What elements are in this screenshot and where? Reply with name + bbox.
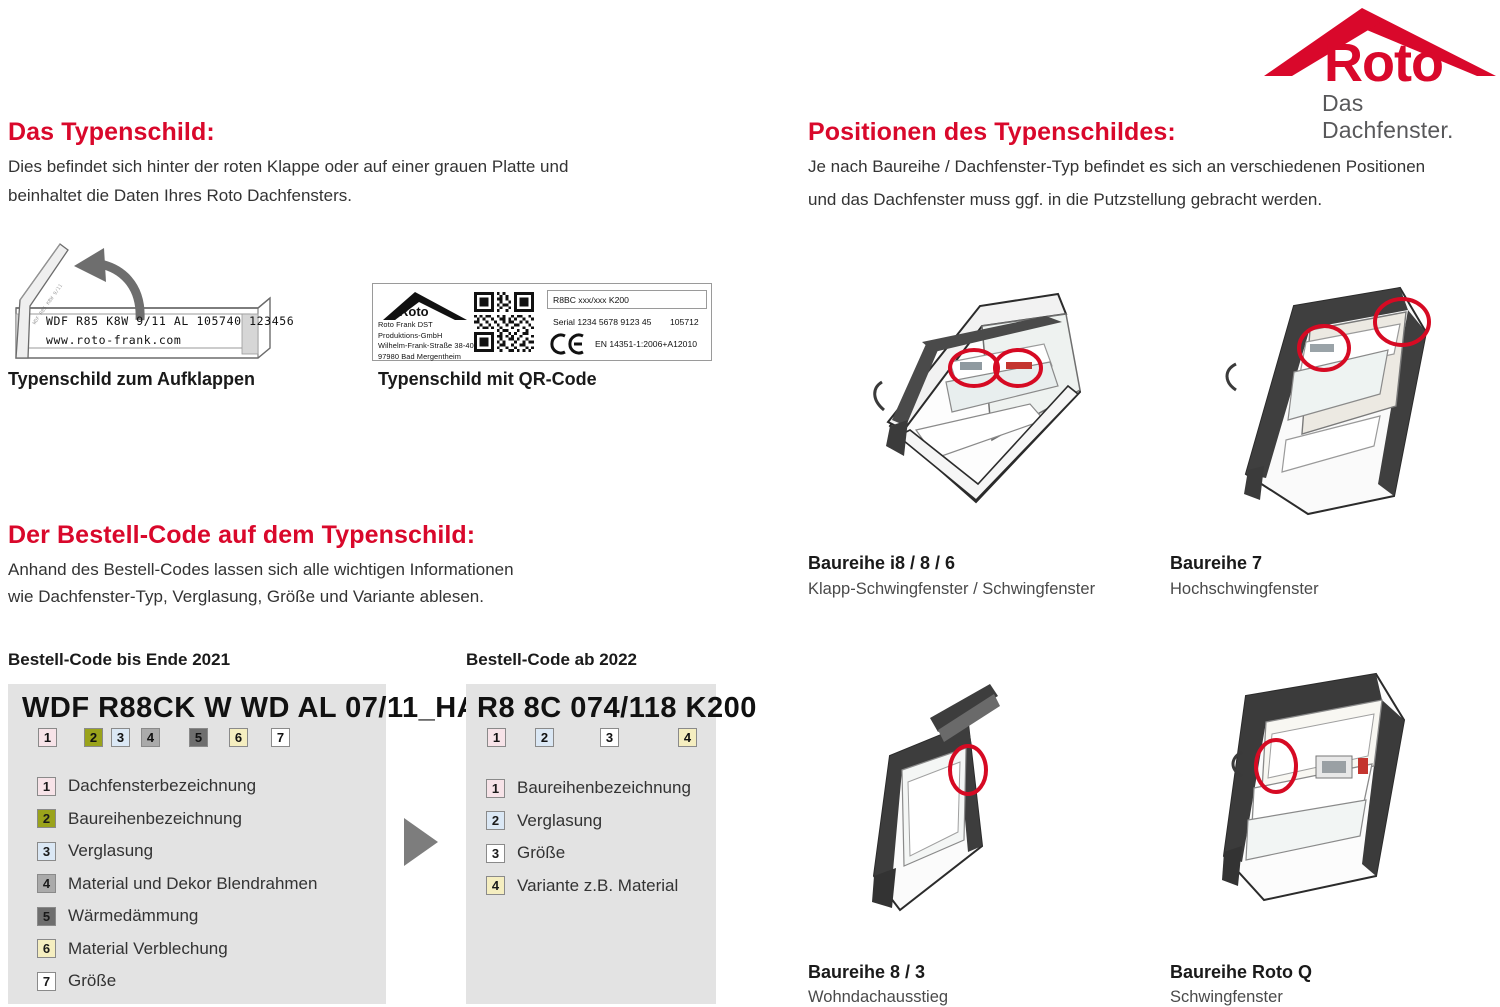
legend-label-5: Wärmedämmung xyxy=(68,906,198,926)
caption-window-4-title: Baureihe Roto Q xyxy=(1170,962,1312,983)
code-badge-1: 1 xyxy=(38,728,57,747)
legend-item-1: 1Dachfensterbezeichnung xyxy=(37,776,256,796)
caption-typenschild-qr: Typenschild mit QR-Code xyxy=(378,369,597,390)
code-badge-5: 5 xyxy=(189,728,208,747)
ce-mark-icon xyxy=(549,333,589,355)
legend-item-1: 1Baureihenbezeichnung xyxy=(486,778,691,798)
legend-badge-7: 7 xyxy=(37,972,56,991)
code-badge-7: 7 xyxy=(271,728,290,747)
document-page: Roto Das Dachfenster. Das Typenschild: D… xyxy=(0,0,1500,1004)
plate-address: Roto Frank DST Produktions-GmbH Wilhelm-… xyxy=(378,320,474,362)
legend-item-5: 5Wärmedämmung xyxy=(37,906,198,926)
typenschild-qr-plate: Roto Roto Frank DST Produktions-GmbH Wil… xyxy=(372,283,712,361)
legend-label-3: Größe xyxy=(517,843,565,863)
caption-window-4-subtitle: Schwingfenster xyxy=(1170,988,1283,1007)
logo-tagline: Das Dachfenster. xyxy=(1322,90,1498,144)
label-code-old: Bestell-Code bis Ende 2021 xyxy=(8,650,230,670)
legend-item-2: 2Baureihenbezeichnung xyxy=(37,809,242,829)
bestellcode-body-line2: wie Dachfenster-Typ, Verglasung, Größe u… xyxy=(8,582,484,611)
caption-window-2-subtitle: Hochschwingfenster xyxy=(1170,580,1319,599)
legend-label-6: Material Verblechung xyxy=(68,939,228,959)
legend-item-2: 2Verglasung xyxy=(486,811,602,831)
legend-badge-2: 2 xyxy=(37,809,56,828)
code-badge-1: 1 xyxy=(487,728,506,747)
legend-label-4: Material und Dekor Blendrahmen xyxy=(68,874,317,894)
legend-badge-6: 6 xyxy=(37,939,56,958)
window-photo-roto-q xyxy=(1180,660,1450,920)
caption-window-3-title: Baureihe 8 / 3 xyxy=(808,962,925,983)
caption-window-2-title: Baureihe 7 xyxy=(1170,553,1262,574)
heading-bestellcode: Der Bestell-Code auf dem Typenschild: xyxy=(8,521,475,550)
heading-typenschild: Das Typenschild: xyxy=(8,118,215,147)
legend-badge-3: 3 xyxy=(486,844,505,863)
window-photo-baureihe-8-3 xyxy=(840,670,1080,920)
logo-wordmark: Roto xyxy=(1324,36,1443,90)
code-badge-2: 2 xyxy=(84,728,103,747)
plate-text-line1: WDF R85 K8W 9/11 AL 105740 123456 xyxy=(46,314,294,328)
plate-text-line2: www.roto-frank.com xyxy=(46,333,181,347)
qr-code-icon xyxy=(474,292,534,352)
legend-item-3: 3Größe xyxy=(486,843,565,863)
code-panel-old: WDF R88CK W WD AL 07/11_HAN 1234567 1Dac… xyxy=(8,684,386,1004)
typenschild-body-line1: Dies befindet sich hinter der roten Klap… xyxy=(8,152,568,181)
legend-badge-2: 2 xyxy=(486,811,505,830)
legend-label-2: Verglasung xyxy=(517,811,602,831)
caption-window-1-subtitle: Klapp-Schwingfenster / Schwingfenster xyxy=(808,580,1095,599)
typenschild-aufklappen-illustration: WDF R85 K8W 9/11 WDF R85 K8W 9/11 AL 105… xyxy=(8,240,278,365)
code-badge-4: 4 xyxy=(141,728,160,747)
roof-window-drawing-2 xyxy=(1190,270,1460,530)
code-badge-6: 6 xyxy=(229,728,248,747)
arrow-right-icon xyxy=(404,818,438,866)
plate-serial-number: 105712 xyxy=(670,317,699,327)
legend-item-4: 4Variante z.B. Material xyxy=(486,876,678,896)
roof-window-drawing-3 xyxy=(840,670,1080,920)
legend-item-4: 4Material und Dekor Blendrahmen xyxy=(37,874,317,894)
caption-window-3-subtitle: Wohndachausstieg xyxy=(808,988,948,1007)
plate-code-field: R8BC xxx/xxx K200 xyxy=(547,290,707,309)
legend-item-3: 3Verglasung xyxy=(37,841,153,861)
heading-positionen: Positionen des Typenschildes: xyxy=(808,118,1176,147)
plate-norm: EN 14351-1:2006+A12010 xyxy=(595,339,697,349)
code-badge-4: 4 xyxy=(678,728,697,747)
caption-typenschild-aufklappen: Typenschild zum Aufklappen xyxy=(8,369,255,390)
code-badge-3: 3 xyxy=(600,728,619,747)
legend-badge-4: 4 xyxy=(37,874,56,893)
legend-label-7: Größe xyxy=(68,971,116,991)
code-new-text: R8 8C 074/118 K200 xyxy=(477,692,757,725)
caption-window-1-title: Baureihe i8 / 8 / 6 xyxy=(808,553,955,574)
label-code-new: Bestell-Code ab 2022 xyxy=(466,650,637,670)
code-badge-2: 2 xyxy=(535,728,554,747)
legend-item-7: 7Größe xyxy=(37,971,116,991)
code-old-text: WDF R88CK W WD AL 07/11_HAN xyxy=(22,692,500,725)
legend-label-1: Baureihenbezeichnung xyxy=(517,778,691,798)
roof-window-drawing-4 xyxy=(1180,660,1450,920)
positionen-body-line2: und das Dachfenster muss ggf. in die Put… xyxy=(808,185,1322,214)
legend-badge-5: 5 xyxy=(37,907,56,926)
legend-label-4: Variante z.B. Material xyxy=(517,876,678,896)
window-photo-i8-8-6 xyxy=(830,270,1100,530)
legend-label-3: Verglasung xyxy=(68,841,153,861)
legend-label-1: Dachfensterbezeichnung xyxy=(68,776,256,796)
window-photo-baureihe-7 xyxy=(1190,270,1460,530)
positionen-body-line1: Je nach Baureihe / Dachfenster-Typ befin… xyxy=(808,152,1425,181)
roof-window-drawing-1 xyxy=(830,270,1100,530)
legend-badge-1: 1 xyxy=(37,777,56,796)
code-badge-3: 3 xyxy=(111,728,130,747)
legend-item-6: 6Material Verblechung xyxy=(37,939,228,959)
legend-badge-3: 3 xyxy=(37,842,56,861)
plate-serial: Serial 1234 5678 9123 45 xyxy=(553,317,651,327)
typenschild-body-line2: beinhaltet die Daten Ihres Roto Dachfens… xyxy=(8,181,352,210)
bestellcode-body-line1: Anhand des Bestell-Codes lassen sich all… xyxy=(8,555,514,584)
roto-logo: Roto Das Dachfenster. xyxy=(1262,6,1498,114)
legend-badge-4: 4 xyxy=(486,876,505,895)
code-panel-new: R8 8C 074/118 K200 1234 1Baureihenbezeic… xyxy=(466,684,716,1004)
legend-badge-1: 1 xyxy=(486,779,505,798)
plate-logo-word: Roto xyxy=(399,304,429,319)
legend-label-2: Baureihenbezeichnung xyxy=(68,809,242,829)
